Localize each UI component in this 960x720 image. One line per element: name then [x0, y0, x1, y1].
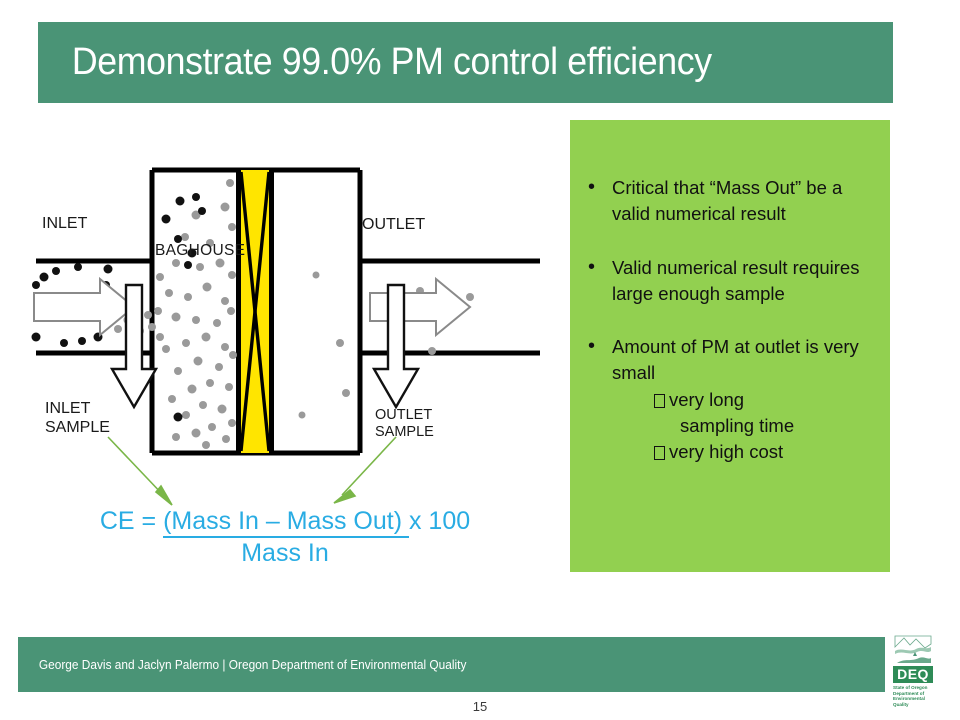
deq-subtitle: State of Oregon Department of Environmen… [893, 685, 941, 707]
notes-panel: Critical that “Mass Out” be a valid nume… [570, 120, 890, 572]
efficiency-formula: CE = (Mass In – Mass Out) x 100 Mass In [0, 505, 570, 569]
wingding-arrow-icon [654, 446, 665, 460]
deq-logo: DEQ State of Oregon Department of Enviro… [893, 634, 945, 716]
deq-acronym: DEQ [893, 666, 933, 683]
sub-bullet: very long [612, 387, 874, 413]
oregon-landscape-icon [893, 634, 933, 664]
filter-bag [236, 170, 274, 453]
list-item: Critical that “Mass Out” be a valid nume… [580, 175, 874, 228]
page-title: Demonstrate 99.0% PM control efficiency [38, 41, 712, 84]
formula-denominator: Mass In [0, 537, 570, 569]
wingding-arrow-icon [654, 394, 665, 408]
formula-numerator: (Mass In – Mass Out) [163, 507, 409, 538]
sub-bullet-text: very long [669, 389, 744, 410]
slide: Demonstrate 99.0% PM control efficiency [0, 0, 960, 720]
formula-tail: x 100 [409, 507, 470, 535]
sub-bullet-text: sampling time [680, 415, 794, 436]
label-inlet: INLET [42, 215, 87, 234]
label-outlet: OUTLET [362, 216, 425, 235]
bullet-text: Critical that “Mass Out” be a valid nume… [612, 177, 842, 224]
label-inlet-sample: INLET SAMPLE [45, 400, 110, 438]
title-bar: Demonstrate 99.0% PM control efficiency [38, 22, 893, 103]
baghouse-diagram: BAGHOUSE [0, 115, 570, 535]
page-number: 15 [0, 699, 960, 714]
sub-bullet-continuation: sampling time [612, 413, 874, 439]
label-baghouse: BAGHOUSE [155, 242, 245, 260]
bullet-text: Valid numerical result requires large en… [612, 257, 859, 304]
notes-bullet-list: Critical that “Mass Out” be a valid nume… [580, 175, 874, 465]
bullet-text: Amount of PM at outlet is very small [612, 336, 859, 383]
sub-bullet-text: very high cost [669, 441, 783, 462]
sub-bullet: very high cost [612, 439, 874, 465]
footer-bar: George Davis and Jaclyn Palermo | Oregon… [18, 637, 885, 692]
list-item: Amount of PM at outlet is very small ver… [580, 334, 874, 465]
footer-credit: George Davis and Jaclyn Palermo | Oregon… [18, 658, 466, 672]
formula-lead: CE = [100, 507, 163, 535]
label-outlet-sample: OUTLET SAMPLE [375, 407, 434, 441]
baghouse-diagram-svg [0, 115, 570, 535]
list-item: Valid numerical result requires large en… [580, 255, 874, 308]
